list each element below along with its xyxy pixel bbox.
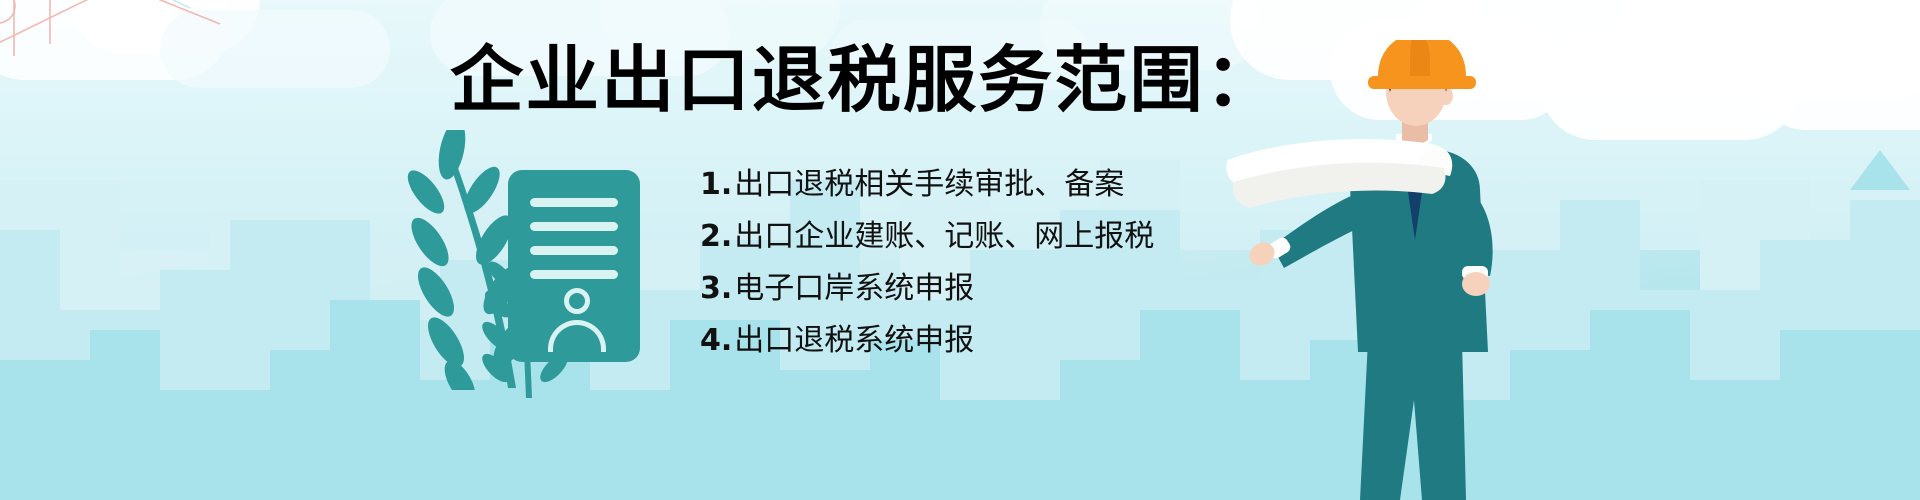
avatar-head-icon (564, 288, 590, 314)
list-item-number: 3. (700, 274, 732, 304)
list-item-number: 2. (700, 222, 732, 252)
page-title: 企业出口退税服务范围： (450, 44, 1280, 116)
avatar-body-icon (548, 320, 606, 352)
export-tax-rebate-banner: 企业出口退税服务范围： 1. 出口退税相关手续审批、备案 2. 出口企业建账、记… (0, 0, 1920, 500)
businessman-illustration (1200, 40, 1620, 500)
certificate-document-icon (508, 170, 640, 362)
list-item-number: 1. (700, 170, 732, 200)
list-item-label: 出口企业建账、记账、网上报税 (734, 222, 1154, 252)
list-item-label: 电子口岸系统申报 (734, 274, 974, 304)
list-item-number: 4. (700, 326, 732, 356)
list-item-label: 出口退税系统申报 (734, 326, 974, 356)
hard-hat-icon (1368, 40, 1476, 89)
trousers (1360, 340, 1466, 500)
list-item-label: 出口退税相关手续审批、备案 (734, 170, 1124, 200)
